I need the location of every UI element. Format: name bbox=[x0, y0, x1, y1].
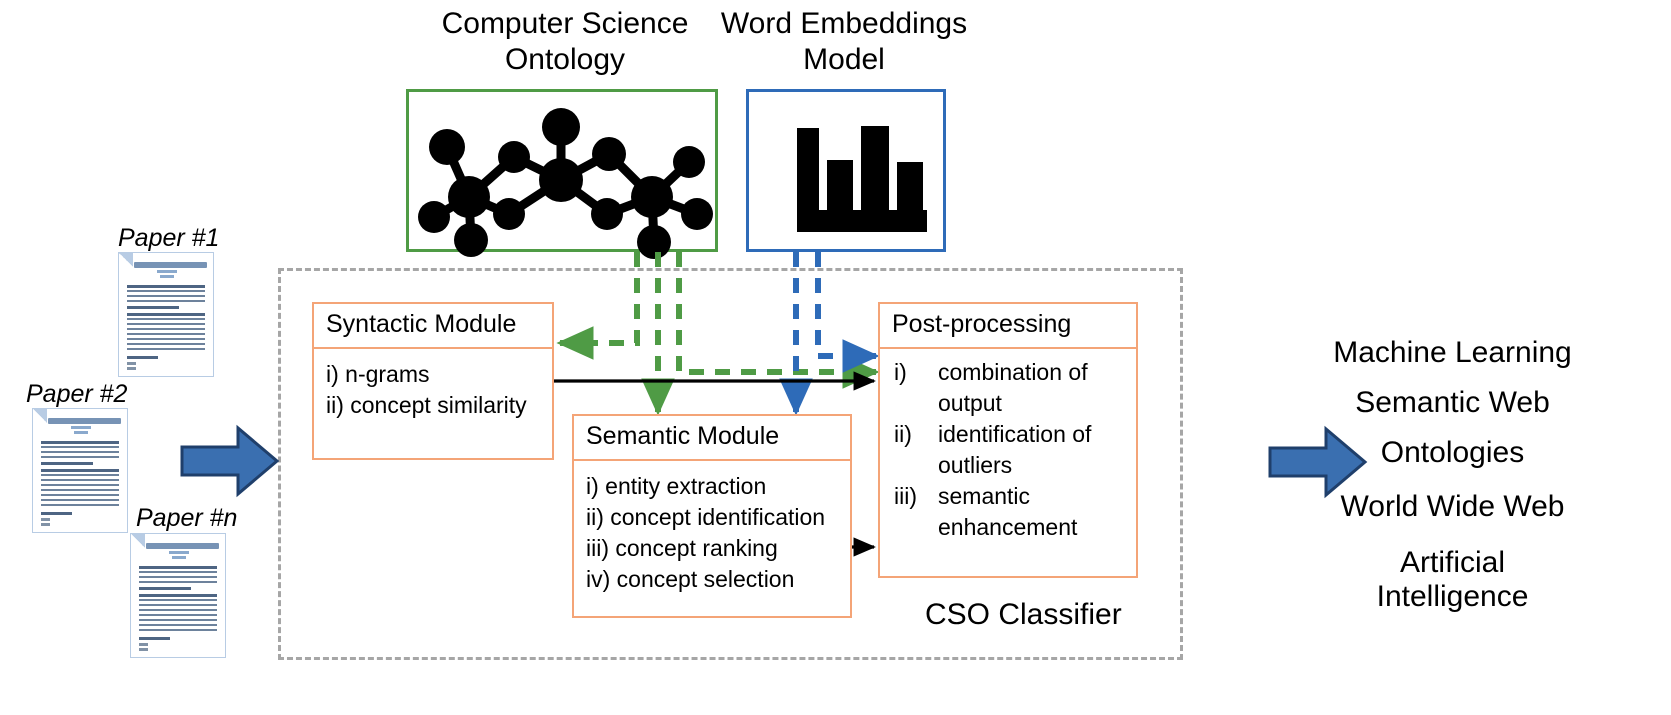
module-semantic[interactable]: Semantic Module i) entity extraction ii)… bbox=[572, 414, 852, 618]
cso-ontology-title: Computer Science Ontology bbox=[400, 6, 730, 78]
output-concept-1: Machine Learning bbox=[1250, 336, 1655, 370]
page-fold-icon bbox=[33, 409, 47, 423]
semantic-item-1: i) entity extraction bbox=[586, 471, 838, 502]
paper-label-n: Paper #n bbox=[136, 504, 237, 533]
syntactic-item-2: ii) concept similarity bbox=[326, 390, 540, 421]
module-post-body: i) combination of output ii) identificat… bbox=[880, 349, 1136, 551]
semantic-item-4: iv) concept selection bbox=[586, 564, 838, 595]
paper-reference-2 bbox=[139, 648, 148, 651]
semantic-item-3: iii) concept ranking bbox=[586, 533, 838, 564]
word-embeddings-title: Word Embeddings Model bbox=[716, 6, 972, 78]
paper-abstract-label bbox=[41, 441, 120, 444]
output-concept-6: Intelligence bbox=[1250, 580, 1655, 614]
paper-thumbnail-1[interactable] bbox=[118, 252, 214, 377]
post-item-2-text: identification of outliers bbox=[938, 419, 1126, 481]
paper-reference-2 bbox=[127, 367, 136, 370]
post-item-3-text: semantic enhancement bbox=[938, 481, 1126, 543]
paper-affiliation-bar bbox=[160, 275, 173, 277]
paper-affiliation-bar bbox=[172, 556, 185, 558]
paper-label-1: Paper #1 bbox=[118, 224, 219, 253]
paper-title-bar bbox=[134, 262, 207, 268]
post-item-1: i) combination of output bbox=[894, 357, 1126, 419]
paper-references-label bbox=[139, 637, 171, 640]
paper-content-label bbox=[139, 594, 218, 597]
paper-keywords-label bbox=[139, 587, 192, 590]
word-embeddings-box bbox=[746, 89, 946, 252]
paper-authors-bar bbox=[157, 270, 178, 272]
paper-keywords-label bbox=[127, 306, 180, 309]
paper-abstract-text bbox=[127, 290, 206, 302]
paper-content-label bbox=[41, 469, 120, 472]
diagram-canvas: Computer Science Ontology Word Embedding… bbox=[0, 0, 1671, 715]
output-concept-3: Ontologies bbox=[1250, 436, 1655, 470]
paper-content-text bbox=[139, 599, 218, 631]
output-concepts: Machine Learning Semantic Web Ontologies… bbox=[1250, 336, 1655, 614]
semantic-item-2: ii) concept identification bbox=[586, 502, 838, 533]
paper-authors-bar bbox=[71, 426, 92, 428]
module-semantic-title: Semantic Module bbox=[574, 416, 850, 461]
syntactic-item-1: i) n-grams bbox=[326, 359, 540, 390]
cso-classifier-label: CSO Classifier bbox=[925, 598, 1122, 632]
paper-content-text bbox=[127, 318, 206, 350]
post-item-1-num: i) bbox=[894, 357, 928, 388]
module-semantic-body: i) entity extraction ii) concept identif… bbox=[574, 461, 850, 603]
paper-keywords-label bbox=[41, 462, 94, 465]
paper-reference-1 bbox=[41, 518, 50, 521]
paper-references-label bbox=[127, 356, 159, 359]
post-item-3: iii) semantic enhancement bbox=[894, 481, 1126, 543]
post-item-1-text: combination of output bbox=[938, 357, 1126, 419]
paper-affiliation-bar bbox=[74, 431, 87, 433]
cso-title-line2: Ontology bbox=[400, 42, 730, 78]
paper-reference-2 bbox=[41, 523, 50, 526]
paper-references-label bbox=[41, 512, 73, 515]
post-item-2: ii) identification of outliers bbox=[894, 419, 1126, 481]
paper-label-2: Paper #2 bbox=[26, 380, 127, 409]
module-post-processing[interactable]: Post-processing i) combination of output… bbox=[878, 302, 1138, 578]
paper-reference-1 bbox=[127, 362, 136, 365]
paper-title-bar bbox=[48, 418, 121, 424]
post-item-3-num: iii) bbox=[894, 481, 928, 512]
cso-title-line1: Computer Science bbox=[400, 6, 730, 42]
page-fold-icon bbox=[119, 253, 133, 267]
we-title-line2: Model bbox=[716, 42, 972, 78]
bar-chart-icon bbox=[749, 92, 943, 249]
module-syntactic-title: Syntactic Module bbox=[314, 304, 552, 349]
paper-thumbnail-2[interactable] bbox=[32, 408, 128, 533]
module-syntactic-body: i) n-grams ii) concept similarity bbox=[314, 349, 552, 429]
cso-ontology-box bbox=[406, 89, 718, 252]
page-fold-icon bbox=[131, 534, 145, 548]
we-title-line1: Word Embeddings bbox=[716, 6, 972, 42]
output-concept-5: Artificial bbox=[1250, 546, 1655, 580]
paper-abstract-text bbox=[139, 571, 218, 583]
paper-content-text bbox=[41, 474, 120, 506]
module-post-title: Post-processing bbox=[880, 304, 1136, 349]
paper-content-label bbox=[127, 313, 206, 316]
paper-abstract-label bbox=[139, 566, 218, 569]
input-arrow bbox=[180, 425, 280, 497]
output-concept-4: World Wide Web bbox=[1250, 490, 1655, 524]
post-item-2-num: ii) bbox=[894, 419, 928, 450]
output-concept-2: Semantic Web bbox=[1250, 386, 1655, 420]
paper-abstract-text bbox=[41, 446, 120, 458]
paper-abstract-label bbox=[127, 285, 206, 288]
paper-thumbnail-n[interactable] bbox=[130, 533, 226, 658]
module-syntactic[interactable]: Syntactic Module i) n-grams ii) concept … bbox=[312, 302, 554, 460]
network-graph-icon bbox=[409, 92, 715, 249]
paper-authors-bar bbox=[169, 551, 190, 553]
paper-reference-1 bbox=[139, 643, 148, 646]
paper-title-bar bbox=[146, 543, 219, 549]
